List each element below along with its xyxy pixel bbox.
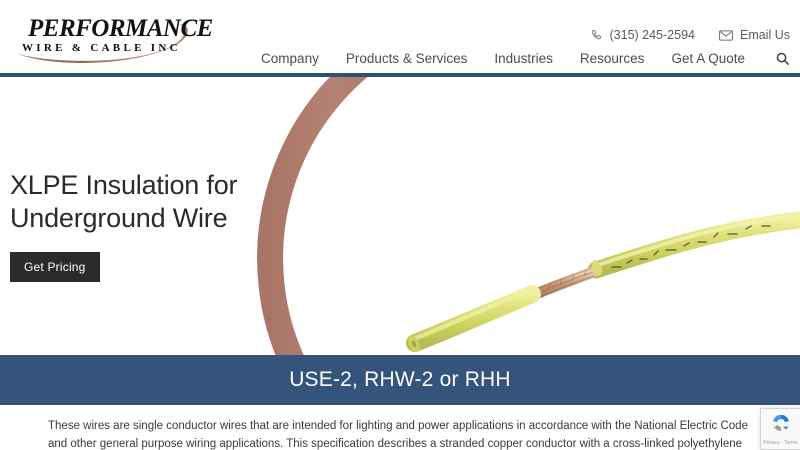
hero-section: XLPE Insulation for Underground Wire Get… — [0, 77, 800, 355]
site-logo[interactable]: PERFORMANCE WIRE & CABLE INC — [8, 12, 198, 64]
recaptcha-separator: - — [781, 440, 783, 446]
hero-copy: XLPE Insulation for Underground Wire Get… — [10, 169, 237, 282]
recaptcha-terms-label[interactable]: Terms — [784, 440, 798, 446]
phone-icon — [590, 29, 603, 42]
content-section: These wires are single conductor wires t… — [0, 405, 800, 450]
content-paragraph: These wires are single conductor wires t… — [48, 418, 754, 450]
mail-icon — [719, 30, 733, 41]
header-email-label: Email Us — [740, 28, 790, 42]
page-root: PERFORMANCE WIRE & CABLE INC (315) 245-2… — [0, 0, 800, 450]
section-banner: USE-2, RHW-2 or RHH — [0, 355, 800, 405]
hero-title: XLPE Insulation for Underground Wire — [10, 169, 237, 235]
nav-item-get-a-quote[interactable]: Get A Quote — [671, 51, 745, 66]
header-contact-bar: (315) 245-2594 Email Us — [590, 28, 791, 42]
nav-item-resources[interactable]: Resources — [580, 51, 645, 66]
nav-item-industries[interactable]: Industries — [494, 51, 553, 66]
site-header: PERFORMANCE WIRE & CABLE INC (315) 245-2… — [0, 0, 800, 73]
recaptcha-privacy-label[interactable]: Privacy — [763, 440, 779, 446]
nav-item-products-services[interactable]: Products & Services — [346, 51, 468, 66]
header-email[interactable]: Email Us — [719, 28, 790, 42]
main-navigation: Company Products & Services Industries R… — [261, 51, 790, 66]
get-pricing-button[interactable]: Get Pricing — [10, 252, 100, 282]
logo-tagline: WIRE & CABLE INC — [22, 42, 181, 54]
search-icon[interactable] — [772, 51, 790, 66]
recaptcha-badge[interactable]: Privacy - Terms — [760, 408, 800, 450]
logo-wordmark: PERFORMANCE — [28, 15, 213, 43]
header-phone[interactable]: (315) 245-2594 — [590, 28, 695, 42]
recaptcha-legal[interactable]: Privacy - Terms — [763, 440, 797, 446]
banner-title: USE-2, RHW-2 or RHH — [289, 368, 511, 392]
recaptcha-icon — [770, 412, 792, 439]
header-phone-label: (315) 245-2594 — [610, 28, 695, 42]
nav-item-company[interactable]: Company — [261, 51, 319, 66]
